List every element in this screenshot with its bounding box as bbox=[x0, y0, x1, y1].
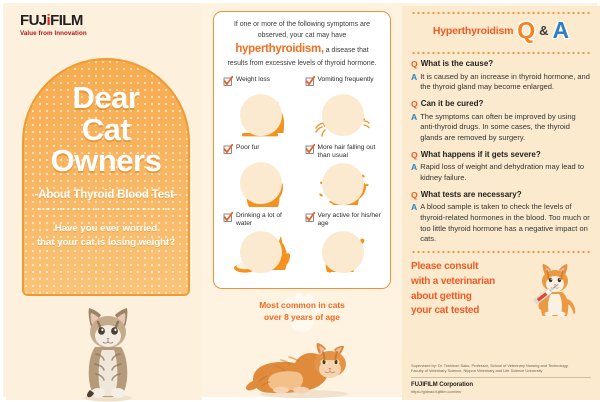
qa-item: Q What is the cause? A It is caused by a… bbox=[411, 59, 591, 93]
checkbox-checked-icon bbox=[223, 76, 233, 86]
checkbox-checked-icon bbox=[223, 144, 233, 154]
symptom-art-poor-fur bbox=[223, 160, 300, 208]
qa-item: Q What happens if it gets severe? A Rapi… bbox=[411, 150, 591, 184]
question-text: What tests are necessary? bbox=[421, 190, 522, 200]
answer-marker: A bbox=[411, 72, 417, 83]
symptom-item: Very active for his/her age bbox=[305, 212, 382, 277]
qa-item: Q Can it be cured? A The symptoms can of… bbox=[411, 99, 591, 144]
hero-subtitle: -About Thyroid Blood Test- bbox=[24, 189, 188, 201]
qa-heading-amp: & bbox=[539, 23, 548, 38]
checkbox-checked-icon bbox=[305, 144, 315, 154]
symptom-art-drinking bbox=[223, 229, 300, 277]
age-caption: Most common in cats over 8 years of age bbox=[205, 299, 399, 323]
age-caption-text: Most common in cats over 8 years of age bbox=[205, 299, 399, 323]
fujifilm-wordmark: FUJiFILM bbox=[20, 13, 130, 28]
cta-section: Please consult with a veterinarian about… bbox=[411, 253, 591, 319]
question-text: Can it be cured? bbox=[421, 99, 484, 109]
kitten-photo bbox=[62, 294, 154, 402]
symptom-label: Very active for his/her age bbox=[318, 212, 382, 229]
qa-heading-word: Hyperthyroidism bbox=[433, 25, 513, 37]
hyperthyroidism-highlight: hyperthyroidism, bbox=[235, 43, 324, 55]
hero-arch: Dear Cat Owners -About Thyroid Blood Tes… bbox=[22, 58, 190, 296]
question-text: What is the cause? bbox=[421, 59, 493, 69]
symptom-item: Weight loss bbox=[223, 76, 300, 141]
qa-heading-q: Q bbox=[517, 19, 535, 42]
qa-heading: Hyperthyroidism Q & A bbox=[411, 14, 591, 46]
qa-bottom-divider bbox=[411, 52, 591, 54]
answer-text: Rapid loss of weight and dehydration may… bbox=[420, 162, 591, 183]
symptom-item: Drinking a lot of water bbox=[223, 212, 300, 277]
answer-text: It is caused by an increase in thyroid h… bbox=[420, 72, 591, 93]
symptom-label: Weight loss bbox=[236, 76, 270, 84]
symptom-art-vomiting bbox=[305, 92, 382, 140]
symptoms-panel: If one or more of the following symptoms… bbox=[205, 6, 399, 400]
symptoms-intro: If one or more of the following symptoms… bbox=[223, 20, 381, 70]
symptom-art-weight-loss bbox=[223, 92, 300, 140]
symptoms-card: If one or more of the following symptoms… bbox=[213, 11, 391, 289]
footer-fineprint: Supervised by: Dr. Toshinori Sako, Profe… bbox=[411, 363, 591, 394]
cta-text: Please consult with a veterinarian about… bbox=[411, 260, 523, 319]
cat-with-syringe-icon bbox=[525, 261, 589, 317]
corporation-name: FUJIFILM Corporation bbox=[411, 381, 591, 388]
symptom-label: More hair falling out than usual bbox=[318, 144, 382, 161]
answer-marker: A bbox=[411, 202, 417, 213]
checkbox-checked-icon bbox=[223, 212, 233, 222]
orange-cat-photo bbox=[245, 336, 363, 398]
qa-list: Q What is the cause? A It is caused by a… bbox=[411, 59, 591, 245]
hero-divider bbox=[36, 208, 176, 210]
qa-item: Q What tests are necessary? A A blood sa… bbox=[411, 190, 591, 245]
qa-panel: Hyperthyroidism Q & A Q What is the caus… bbox=[402, 6, 600, 400]
answer-text: The symptoms can often be improved by us… bbox=[420, 112, 591, 144]
symptom-art-shedding bbox=[305, 161, 382, 209]
question-marker: Q bbox=[411, 190, 418, 201]
hero-question: Have you ever worried that your cat is l… bbox=[24, 222, 188, 250]
footer-rule bbox=[411, 377, 591, 378]
question-marker: Q bbox=[411, 99, 418, 110]
question-marker: Q bbox=[411, 59, 418, 70]
answer-marker: A bbox=[411, 112, 417, 123]
symptom-item: More hair falling out than usual bbox=[305, 144, 382, 209]
symptom-art-active bbox=[305, 229, 382, 277]
symptom-item: Poor fur bbox=[223, 144, 300, 209]
answer-text: A blood sample is taken to check the lev… bbox=[420, 202, 591, 245]
supervisor-credit: Supervised by: Dr. Toshinori Sako, Profe… bbox=[411, 363, 591, 374]
question-text: What happens if it gets severe? bbox=[421, 150, 541, 160]
checkbox-checked-icon bbox=[305, 212, 315, 222]
symptom-item: Vomiting frequently bbox=[305, 76, 382, 141]
symptom-label: Vomiting frequently bbox=[318, 76, 374, 84]
symptom-label: Drinking a lot of water bbox=[236, 212, 300, 229]
checkbox-checked-icon bbox=[305, 76, 315, 86]
qa-heading-a: A bbox=[553, 19, 570, 42]
fujifilm-tagline: Value from Innovation bbox=[20, 30, 130, 37]
hero-panel: FUJiFILM Value from Innovation Dear Cat … bbox=[6, 6, 202, 400]
symptoms-grid: Weight loss bbox=[223, 76, 381, 277]
hero-title: Dear Cat Owners bbox=[24, 60, 188, 177]
fujifilm-logo: FUJiFILM Value from Innovation bbox=[20, 13, 130, 37]
footer-url[interactable]: https://gldnad.fujifilm.com/en/ bbox=[411, 389, 591, 394]
symptom-label: Poor fur bbox=[236, 144, 259, 152]
infographic-page: FUJiFILM Value from Innovation Dear Cat … bbox=[0, 0, 600, 400]
question-marker: Q bbox=[411, 150, 418, 161]
answer-marker: A bbox=[411, 162, 417, 173]
